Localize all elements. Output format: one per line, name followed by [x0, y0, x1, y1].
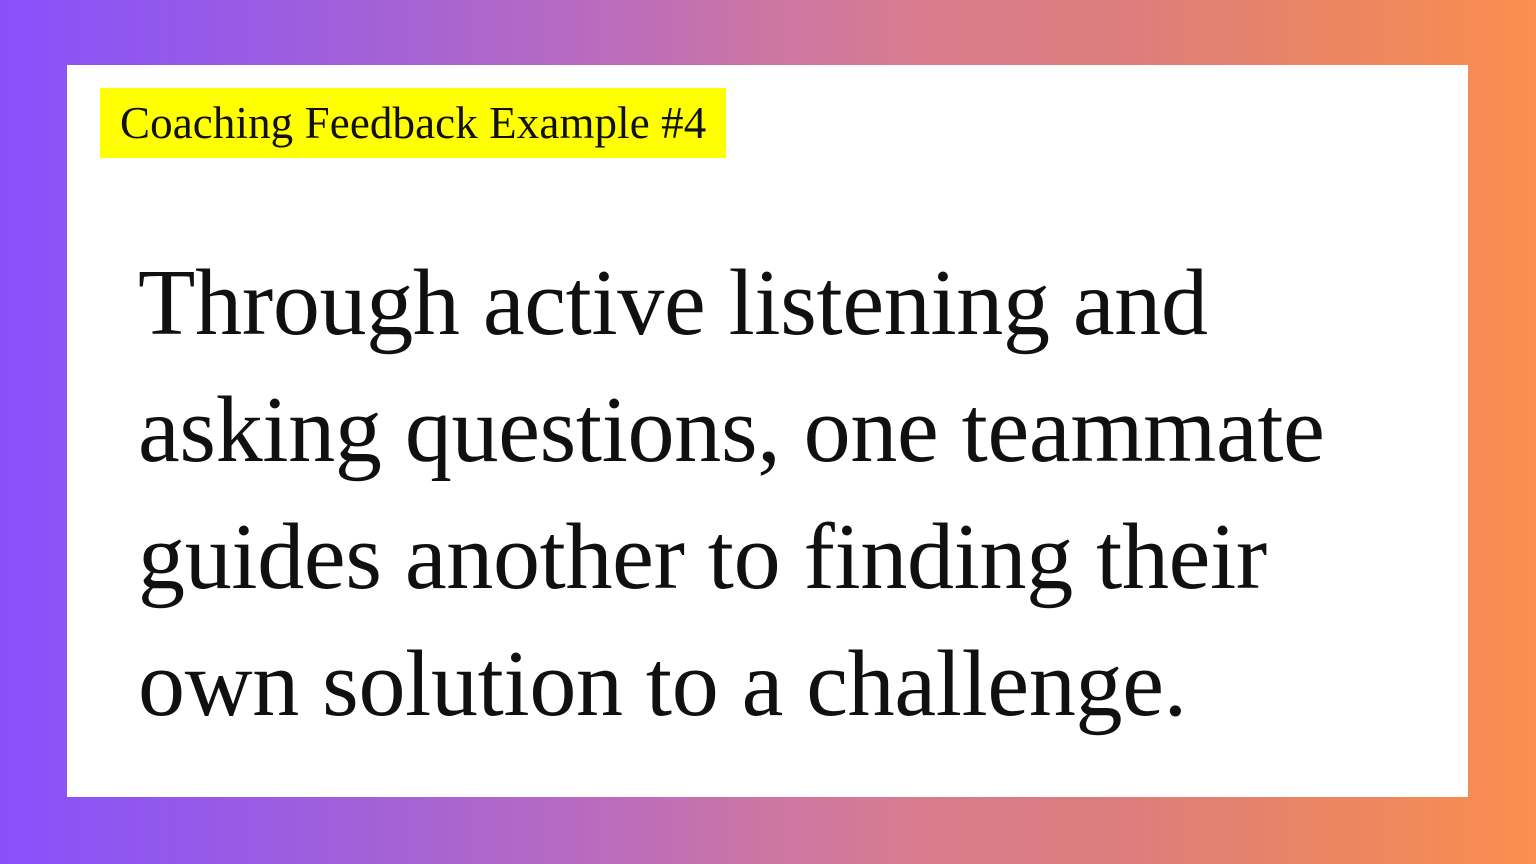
highlighted-title: Coaching Feedback Example #4	[100, 88, 726, 158]
body-text-block: Through active listening and asking ques…	[138, 240, 1408, 748]
body-line: guides another to finding their	[138, 494, 1408, 621]
header-row: Coaching Feedback Example #4	[100, 88, 726, 158]
slide-canvas: Coaching Feedback Example #4 Through act…	[0, 0, 1536, 864]
body-line: own solution to a challenge.	[138, 621, 1408, 748]
body-line: Through active listening and	[138, 240, 1408, 367]
body-line: asking questions, one teammate	[138, 367, 1408, 494]
content-card: Coaching Feedback Example #4 Through act…	[67, 65, 1468, 797]
